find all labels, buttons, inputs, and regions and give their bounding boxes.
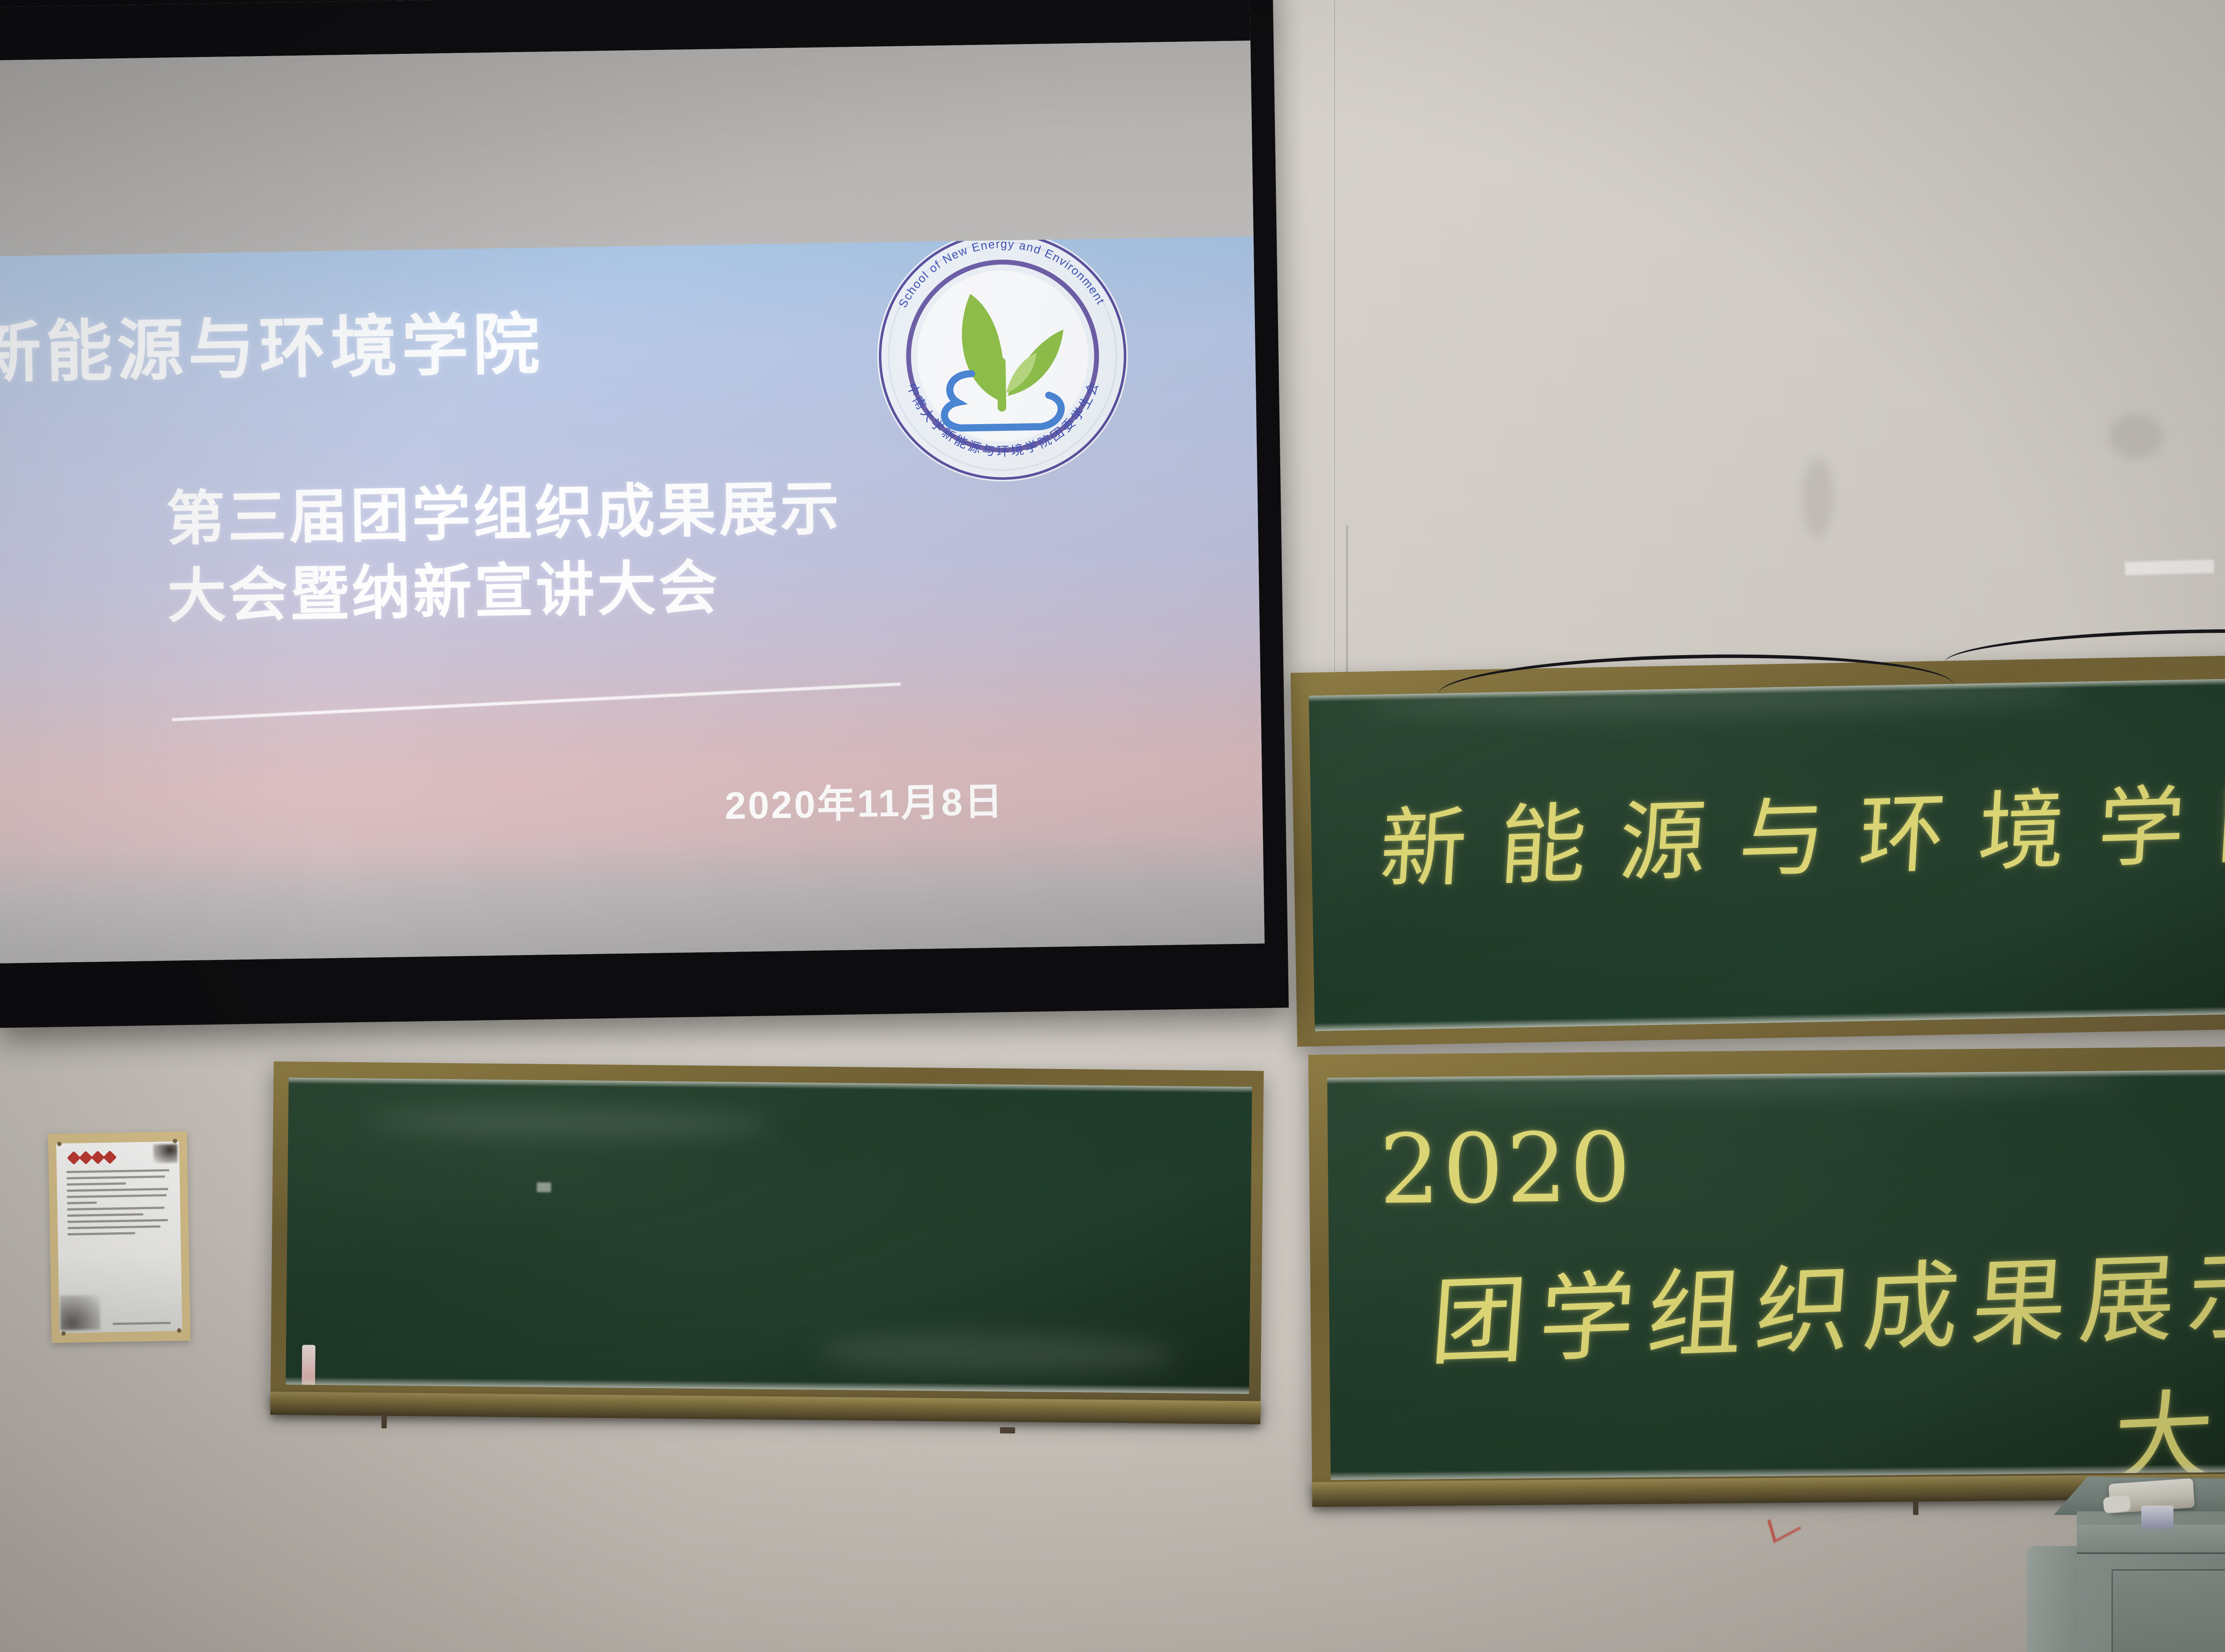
chalk-mark	[537, 1182, 551, 1192]
blackboard-right-top-text: 新能源与环境学院	[1377, 752, 2225, 905]
blackboard-right-bottom-face[interactable]: 2020 团学组织成果展示 大会	[1327, 1068, 2225, 1480]
chalk-dust	[820, 1332, 1176, 1376]
blackboard-eraser-felt	[2103, 1495, 2131, 1514]
slide-subtitle-line2: 大会暨纳新宣讲大会	[167, 547, 844, 636]
chalk-stick[interactable]	[2141, 1506, 2173, 1529]
poster-ink-blot	[60, 1295, 100, 1331]
blackboard-left-face[interactable]	[286, 1077, 1252, 1394]
slide-subtitle: 第三届团学组织成果展示 大会暨纳新宣讲大会	[166, 470, 843, 636]
presentation-slide: 新能源与环境学院 第三届团学组织成果展示 大会暨纳新宣讲大会 2020年11月8…	[0, 236, 1265, 964]
podium-front-panel[interactable]	[2112, 1569, 2225, 1652]
wall-seam	[1333, 0, 1336, 757]
ledge-screw	[381, 1413, 387, 1428]
screen-surface[interactable]: 新能源与环境学院 第三届团学组织成果展示 大会暨纳新宣讲大会 2020年11月8…	[0, 0, 1265, 964]
chalk-piece-pink[interactable]	[302, 1345, 316, 1394]
slide-date: 2020年11月8日	[724, 770, 1005, 830]
poster-pin	[177, 1328, 182, 1333]
wall-tape-residue	[2125, 559, 2214, 575]
slide-divider-rule	[172, 683, 901, 721]
poster-text-lines	[66, 1169, 174, 1239]
blackboard-event-line2: 大会	[2109, 1349, 2225, 1480]
chalk-dust	[368, 1105, 769, 1140]
poster-signature-line	[113, 1322, 170, 1325]
poster-sheet	[56, 1142, 182, 1333]
wall-poster[interactable]	[48, 1131, 190, 1343]
podium-side-panel	[2027, 1546, 2079, 1652]
wall-scuff	[2109, 414, 2163, 458]
projection-screen[interactable]: 新能源与环境学院 第三届团学组织成果展示 大会暨纳新宣讲大会 2020年11月8…	[0, 0, 1289, 1028]
slide-title: 新能源与环境学院	[0, 290, 545, 396]
poster-pin	[61, 1331, 66, 1336]
blackboard-right-bottom[interactable]: 2020 团学组织成果展示 大会	[1308, 1045, 2225, 1500]
poster-diamond-icons	[69, 1152, 115, 1163]
college-emblem-icon: School of New Energy and Environment 中南大…	[858, 236, 1147, 501]
poster-ink-blot	[153, 1144, 178, 1163]
blackboard-right-top-face[interactable]: 新能源与环境学院	[1309, 675, 2225, 1031]
ledge-screw	[1913, 1500, 1918, 1515]
podium-drawer-lip[interactable]	[2077, 1525, 2225, 1554]
classroom-scene: 新能源与环境学院 2020 团学组织成果展示 大会 新能源与环境学院 第三届团学…	[0, 0, 2225, 1652]
chalk-dust	[1371, 1068, 2128, 1098]
slide-subtitle-line1: 第三届团学组织成果展示	[166, 470, 842, 558]
blackboard-year-text: 2020	[1379, 1112, 1634, 1226]
blackboard-right-top[interactable]: 新能源与环境学院	[1290, 651, 2225, 1047]
poster-pin	[173, 1139, 177, 1143]
blackboard-event-line1: 团学组织成果展示	[1427, 1216, 2225, 1384]
wall-scuff	[1802, 458, 1833, 539]
blackboard-left[interactable]	[271, 1061, 1264, 1418]
ledge-screw	[1000, 1427, 1015, 1433]
